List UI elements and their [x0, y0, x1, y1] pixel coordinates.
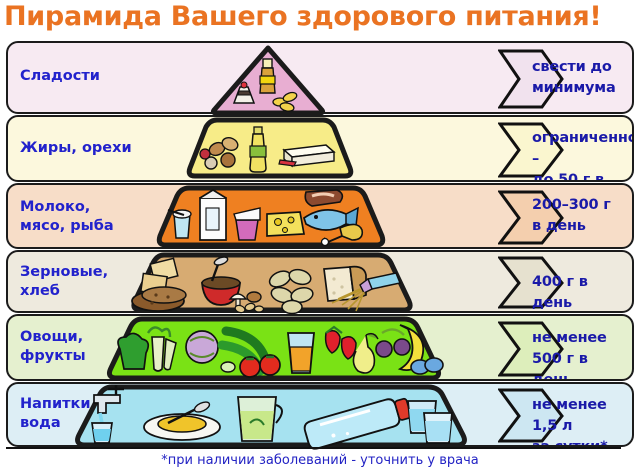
- page-title: Пирамида Вашего здорового питания!: [4, 0, 640, 35]
- food-yoghurt-cup-icon: [234, 208, 260, 240]
- food-cheese-icon: [267, 212, 304, 236]
- pyramid-layer-vegetables: [104, 315, 444, 383]
- food-juice-glass-icon: [288, 333, 314, 373]
- pyramid-layer-fats: [184, 116, 356, 180]
- food-oil-bottle-icon: [250, 127, 266, 172]
- pyramid-layer-sweets: [208, 45, 328, 115]
- footnote-text: *при наличии заболеваний - уточнить у вр…: [0, 449, 640, 472]
- food-broccoli-icon: [118, 333, 148, 369]
- food-cabbage-icon: [186, 331, 218, 363]
- food-plum-icon: [411, 358, 443, 374]
- row-note-grains: 400 г в день: [532, 272, 632, 313]
- row-note-dairy: 200–300 г в день: [532, 195, 611, 237]
- row-label-fats: Жиры, орехи: [20, 139, 132, 158]
- row-label-vegetables: Овощи, фрукты: [20, 328, 86, 366]
- row-note-sweets: свести до минимума: [532, 57, 616, 99]
- infographic-root: Пирамида Вашего здорового питания! Сладо…: [0, 0, 640, 472]
- row-label-grains: Зерновые, хлеб: [20, 263, 108, 301]
- pyramid-layer-grains: [128, 251, 416, 315]
- row-note-fats: ограниченно – до 50 г в день: [532, 128, 634, 182]
- row-note-drinks: не менее 1,5 л за сутки*: [532, 395, 632, 447]
- pyramid-layer-drinks: [72, 383, 470, 449]
- pyramid-layer-dairy: [154, 184, 388, 250]
- row-label-sweets: Сладости: [20, 67, 100, 86]
- row-label-dairy: Молоко, мясо, рыба: [20, 198, 114, 236]
- row-note-vegetables: не менее 500 г в день: [532, 328, 632, 381]
- food-milk-carton-icon: [200, 190, 226, 240]
